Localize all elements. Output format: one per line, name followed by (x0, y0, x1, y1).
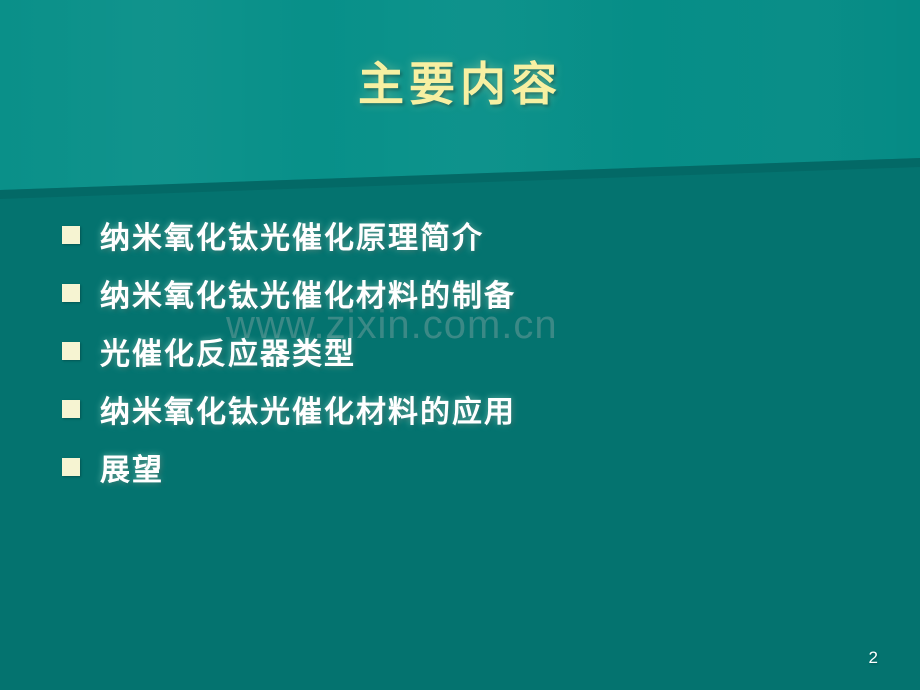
square-bullet-icon (62, 400, 80, 418)
presentation-slide: 主要内容 www.zixin.com.cn 纳米氧化钛光催化原理简介 纳米氧化钛… (0, 0, 920, 690)
list-item: 展望 (62, 438, 862, 496)
list-item-label: 纳米氧化钛光催化材料的应用 (100, 387, 516, 431)
list-item: 纳米氧化钛光催化原理简介 (62, 206, 862, 264)
slide-title: 主要内容 (0, 58, 920, 111)
square-bullet-icon (62, 226, 80, 244)
bullet-list: 纳米氧化钛光催化原理简介 纳米氧化钛光催化材料的制备 光催化反应器类型 纳米氧化… (62, 206, 862, 496)
list-item: 光催化反应器类型 (62, 322, 862, 380)
list-item-label: 展望 (100, 445, 164, 489)
list-item: 纳米氧化钛光催化材料的应用 (62, 380, 862, 438)
square-bullet-icon (62, 284, 80, 302)
square-bullet-icon (62, 342, 80, 360)
list-item-label: 光催化反应器类型 (100, 329, 356, 373)
list-item-label: 纳米氧化钛光催化材料的制备 (100, 271, 516, 315)
list-item: 纳米氧化钛光催化材料的制备 (62, 264, 862, 322)
page-number: 2 (869, 648, 878, 668)
square-bullet-icon (62, 458, 80, 476)
list-item-label: 纳米氧化钛光催化原理简介 (100, 213, 484, 257)
